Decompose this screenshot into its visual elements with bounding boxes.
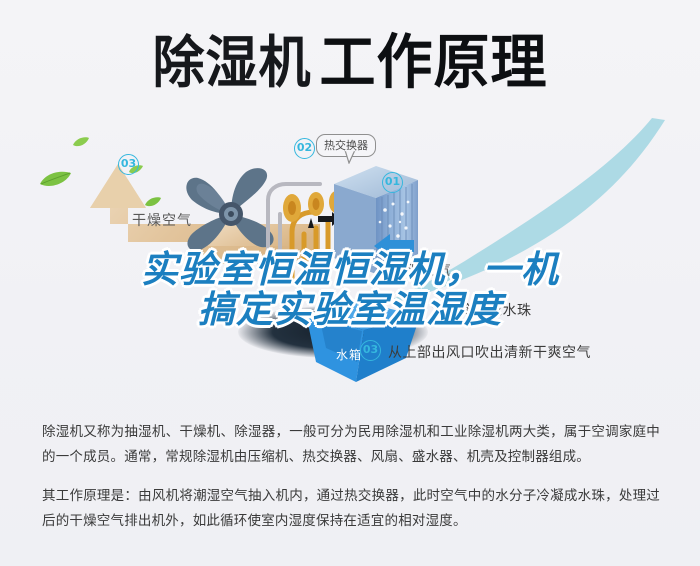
title-part-2: 工作原理 (320, 15, 548, 101)
article-body: 除湿机又称为抽湿机、干燥机、除湿器，一般可分为民用除湿机和工业除湿机两大类，属于… (42, 420, 660, 534)
title-part-1: 除湿机 (152, 17, 311, 98)
page-title: 除湿机 工作原理 (0, 20, 700, 95)
label-humid-air: 潮湿空气 (392, 260, 452, 280)
label-dry-air: 干燥空气 (132, 210, 192, 230)
body-paragraph-2: 其工作原理是：由风机将潮湿空气抽入机内，通过热交换器，此时空气中的水分子冷凝成水… (42, 484, 660, 534)
page-root: 除湿机 工作原理 (0, 0, 700, 566)
dehumidifier-principle-diagram: 干燥空气 潮湿空气 水箱 03 02 01 热交换器 发器冷凝成水珠 03 从上… (0, 118, 700, 398)
badge-03: 03 (118, 154, 139, 175)
badge-02: 02 (294, 138, 315, 159)
step-02-description: 发器冷凝成水珠 (430, 300, 532, 320)
badge-03-step: 03 (360, 340, 381, 361)
body-paragraph-1: 除湿机又称为抽湿机、干燥机、除湿器，一般可分为民用除湿机和工业除湿机两大类，属于… (42, 420, 660, 470)
leaf-icon (38, 170, 72, 188)
leaf-icon (144, 196, 162, 207)
leaf-icon (72, 136, 90, 147)
badge-01: 01 (382, 172, 403, 193)
step-03-description: 从上部出风口吹出清新干爽空气 (388, 342, 591, 362)
callout-tail-icon (344, 150, 356, 164)
label-water-tank: 水箱 (336, 346, 362, 363)
